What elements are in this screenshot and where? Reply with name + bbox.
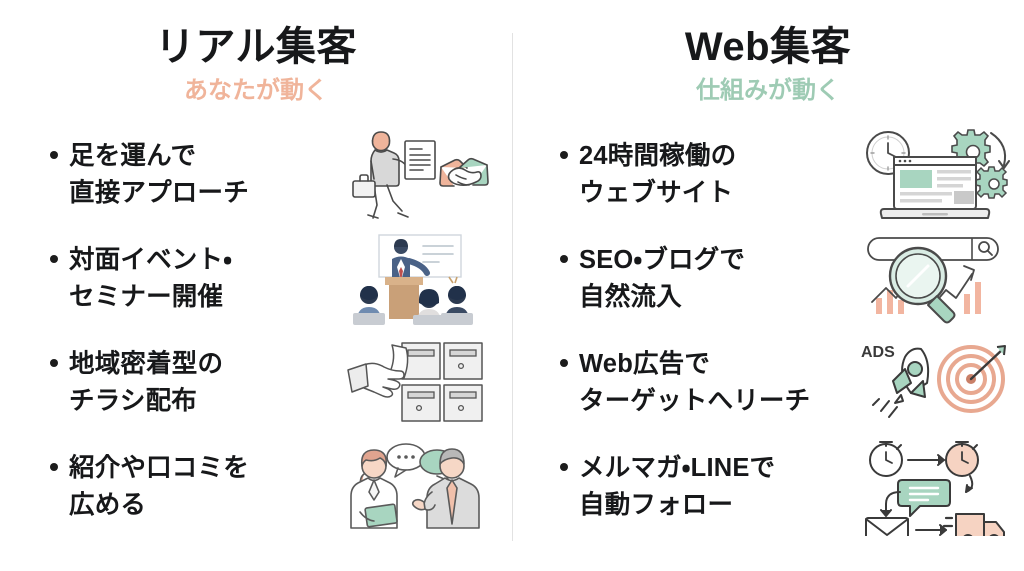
left-column-header: リアル集客 あなたが動く [0, 0, 512, 105]
bullet-dot-icon [50, 255, 58, 263]
right-column-header: Web集客 仕組みが動く [512, 0, 1024, 105]
bullet-dot-icon [50, 359, 58, 367]
bullet-row: Web広告で ターゲットへリーチ [512, 346, 822, 418]
left-items-list: 足を運んで 直接アプローチ [0, 123, 512, 539]
magnifier-searchbar-chart-icon [856, 230, 1016, 328]
bullet-dot-icon [560, 255, 568, 263]
bullet-row: 足を運んで 直接アプローチ [0, 138, 300, 210]
column-real-marketing: リアル集客 あなたが動く 足を運んで 直接アプローチ [0, 0, 512, 571]
list-item: SEO・ブログで 自然流入 [512, 227, 1024, 331]
list-item: 紹介や口コミを 広める [0, 435, 512, 539]
list-item-label: メルマガ・LINEで 自動フォロー [579, 450, 775, 522]
bullet-row: 24時間稼働の ウェブサイト [512, 138, 822, 210]
bullet-row: SEO・ブログで 自然流入 [512, 242, 822, 314]
list-item: 足を運んで 直接アプローチ [0, 123, 512, 227]
list-item-label: 紹介や口コミを 広める [69, 450, 249, 522]
slide-canvas: リアル集客 あなたが動く 足を運んで 直接アプローチ [0, 0, 1024, 571]
rocket-target-icon: ADS [856, 334, 1016, 432]
list-item: メルマガ・LINEで 自動フォロー [512, 435, 1024, 539]
right-items-list: 24時間稼働の ウェブサイト [512, 123, 1024, 539]
businessman-handshake-icon [340, 126, 490, 224]
bullet-row: 紹介や口コミを 広める [0, 450, 300, 522]
bullet-dot-icon [50, 151, 58, 159]
two-people-conversation-icon [340, 438, 490, 536]
list-item-label: 足を運んで 直接アプローチ [69, 138, 249, 210]
automation-flow-icon [856, 438, 1016, 536]
bullet-dot-icon [50, 463, 58, 471]
left-column-subtitle: あなたが動く [0, 78, 512, 104]
hand-flyer-mailbox-icon [340, 334, 490, 432]
bullet-dot-icon [560, 463, 568, 471]
list-item-label: 対面イベント・ セミナー開催 [69, 242, 232, 314]
bullet-dot-icon [560, 151, 568, 159]
list-item-label: 24時間稼働の ウェブサイト [579, 138, 736, 210]
laptop-clock-gears-icon [856, 126, 1016, 224]
bullet-row: メルマガ・LINEで 自動フォロー [512, 450, 822, 522]
list-item: 24時間稼働の ウェブサイト [512, 123, 1024, 227]
list-item: 地域密着型の チラシ配布 [0, 331, 512, 435]
right-column-subtitle: 仕組みが動く [512, 78, 1024, 104]
list-item: Web広告で ターゲットへリーチ ADS [512, 331, 1024, 435]
list-item-label: SEO・ブログで 自然流入 [579, 242, 745, 314]
ads-label: ADS [861, 344, 895, 361]
seminar-presentation-icon [340, 230, 490, 328]
bullet-row: 対面イベント・ セミナー開催 [0, 242, 300, 314]
list-item-label: Web広告で ターゲットへリーチ [579, 346, 810, 418]
bullet-row: 地域密着型の チラシ配布 [0, 346, 300, 418]
list-item-label: 地域密着型の チラシ配布 [69, 346, 223, 418]
column-web-marketing: Web集客 仕組みが動く 24時間稼働の ウェブサイト [512, 0, 1024, 571]
right-column-title: Web集客 [512, 26, 1024, 69]
list-item: 対面イベント・ セミナー開催 [0, 227, 512, 331]
bullet-dot-icon [560, 359, 568, 367]
left-column-title: リアル集客 [0, 26, 512, 69]
